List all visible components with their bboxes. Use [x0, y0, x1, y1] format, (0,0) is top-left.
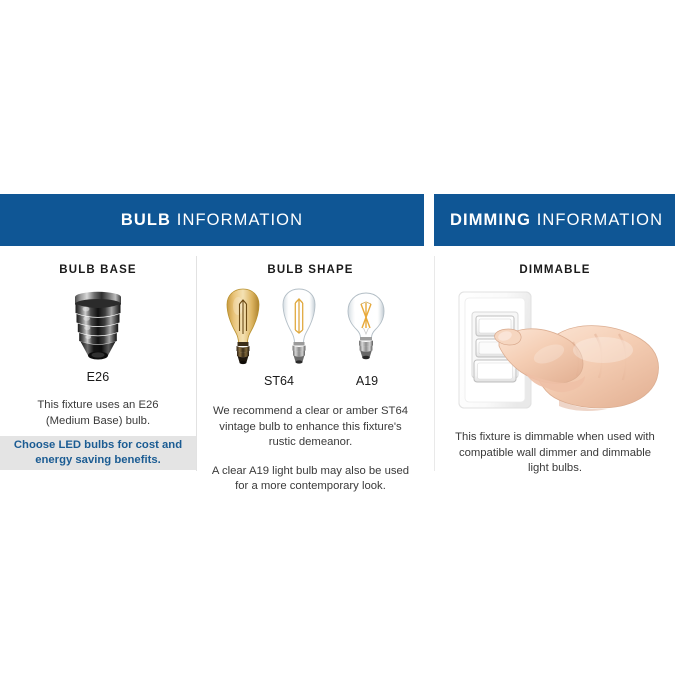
bulb-information-title-rest: INFORMATION — [177, 211, 303, 229]
bulb-shape-labels: ST64 A19 — [197, 374, 424, 392]
bulb-base-title: BULB BASE — [0, 264, 196, 276]
bulb-shape-title: BULB SHAPE — [197, 264, 424, 276]
bulb-shape-description-secondary: A clear A19 light bulb may also be used … — [211, 464, 411, 495]
dimmable-title: DIMMABLE — [435, 264, 675, 276]
bulb-shape-label-a19: A19 — [347, 374, 387, 388]
hand-pressing-wall-dimmer-switch-icon — [443, 284, 668, 412]
dimmable-description: This fixture is dimmable when used with … — [455, 430, 655, 477]
bulb-shape-description-primary: We recommend a clear or amber ST64 vinta… — [211, 404, 411, 451]
dimming-information-header: DIMMING INFORMATION — [434, 194, 675, 246]
dimming-information-body: DIMMABLE — [434, 246, 675, 488]
led-recommendation-callout: Choose LED bulbs for cost and energy sav… — [0, 436, 196, 470]
bulb-base-description: This fixture uses an E26 (Medium Base) b… — [14, 398, 182, 429]
dimming-information-panel: DIMMING INFORMATION DIMMABLE — [434, 194, 675, 488]
dimming-information-title-rest: INFORMATION — [537, 211, 663, 229]
dimmer-switch-image-area — [443, 284, 668, 412]
bulb-and-dimming-info-graphic: BULB INFORMATION BULB BASE — [0, 0, 675, 675]
bulb-base-column: BULB BASE — [0, 246, 196, 429]
a19-clear-bulb-icon — [342, 290, 390, 370]
st64-clear-vintage-bulb-icon — [275, 286, 323, 370]
bulb-base-image-area — [0, 288, 196, 370]
bulb-shape-image-area — [197, 286, 424, 370]
bulb-shape-label-st64: ST64 — [249, 374, 309, 388]
bulb-information-title-strong: BULB — [121, 211, 171, 229]
bulb-shape-column: BULB SHAPE — [197, 246, 424, 495]
bulb-base-image-label: E26 — [0, 370, 196, 384]
bulb-information-header: BULB INFORMATION — [0, 194, 424, 246]
bulb-information-panel: BULB INFORMATION BULB BASE — [0, 194, 424, 488]
dimming-information-title: DIMMING INFORMATION — [450, 211, 663, 230]
e26-medium-base-bulb-socket-icon — [71, 290, 125, 364]
st64-amber-vintage-bulb-icon — [219, 286, 267, 370]
bulb-information-title: BULB INFORMATION — [121, 211, 303, 230]
dimming-information-title-strong: DIMMING — [450, 211, 531, 229]
led-recommendation-text: Choose LED bulbs for cost and energy sav… — [10, 438, 186, 468]
dimmable-column: DIMMABLE — [435, 246, 675, 477]
